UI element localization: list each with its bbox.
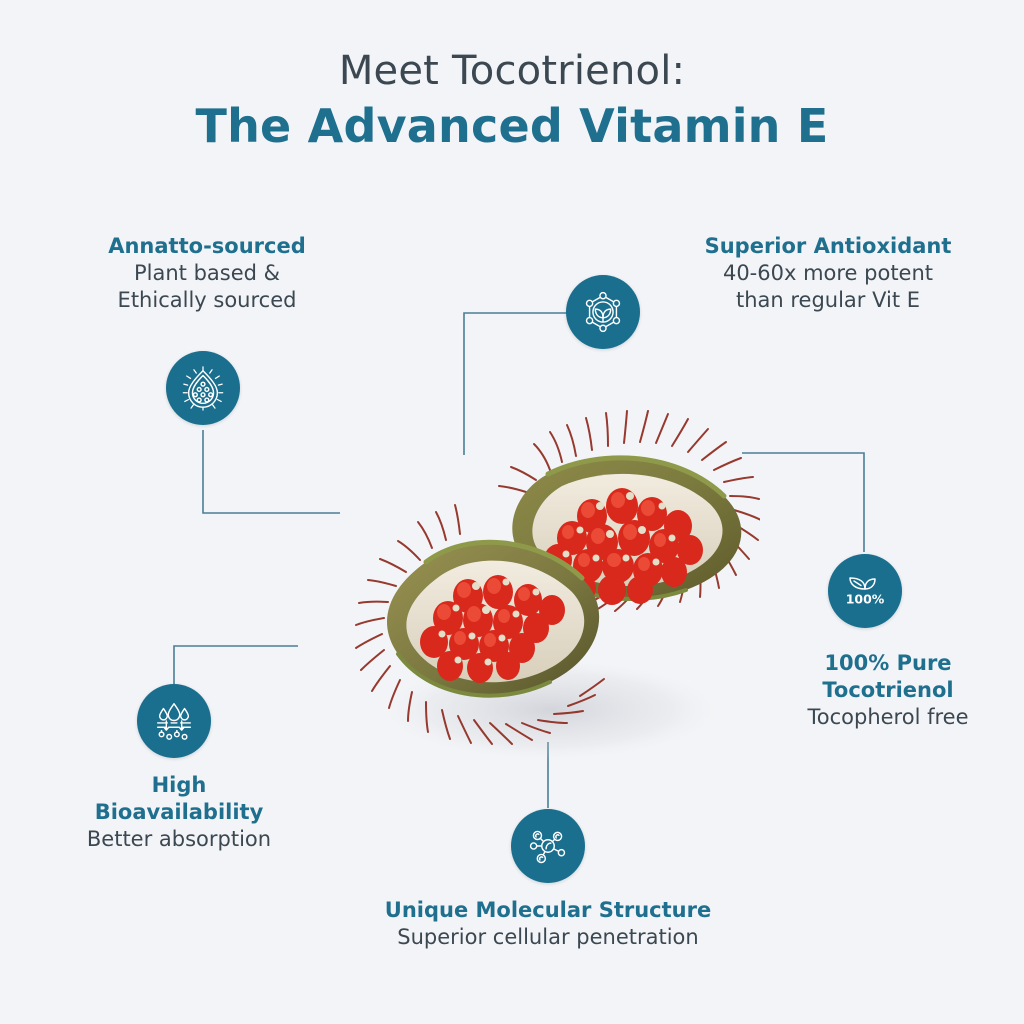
label-annatto-sourced: Annatto-sourced Plant based & Ethically …: [62, 233, 352, 314]
molecule-leaf-icon[interactable]: [566, 275, 640, 349]
leaf-percent-text: 100%: [846, 592, 885, 607]
label-superior-antioxidant: Superior Antioxidant 40-60x more potent …: [673, 233, 983, 314]
connector-bioavailability: [174, 646, 298, 684]
pure-title-1: 100% Pure: [762, 650, 1014, 677]
annatto-pod-icon[interactable]: [166, 351, 240, 425]
molecular-sub-1: Superior cellular penetration: [313, 924, 783, 951]
page-title: Meet Tocotrienol: The Advanced Vitamin E: [0, 48, 1024, 154]
pure-sub-1: Tocopherol free: [762, 704, 1014, 731]
connector-pure: [742, 453, 864, 552]
bioavailability-title-2: Bioavailability: [34, 799, 324, 826]
label-unique-molecular-structure: Unique Molecular Structure Superior cell…: [313, 897, 783, 951]
molecular-title: Unique Molecular Structure: [313, 897, 783, 924]
title-line-1: Meet Tocotrienol:: [0, 48, 1024, 95]
droplet-absorption-icon[interactable]: [137, 684, 211, 758]
label-pure-tocotrienol: 100% Pure Tocotrienol Tocopherol free: [762, 650, 1014, 731]
pure-title-2: Tocotrienol: [762, 677, 1014, 704]
annatto-title: Annatto-sourced: [62, 233, 352, 260]
antioxidant-title: Superior Antioxidant: [673, 233, 983, 260]
infographic-canvas: Meet Tocotrienol: The Advanced Vitamin E: [0, 0, 1024, 1024]
antioxidant-sub-2: than regular Vit E: [673, 287, 983, 314]
annatto-pod-photo: [300, 410, 760, 770]
antioxidant-sub-1: 40-60x more potent: [673, 260, 983, 287]
annatto-sub-1: Plant based &: [62, 260, 352, 287]
title-line-2: The Advanced Vitamin E: [0, 99, 1024, 154]
leaf-percent-icon[interactable]: 100%: [828, 554, 902, 628]
label-high-bioavailability: High Bioavailability Better absorption: [34, 772, 324, 853]
molecule-node-icon[interactable]: [511, 809, 585, 883]
bioavailability-title-1: High: [34, 772, 324, 799]
bioavailability-sub-1: Better absorption: [34, 826, 324, 853]
annatto-sub-2: Ethically sourced: [62, 287, 352, 314]
